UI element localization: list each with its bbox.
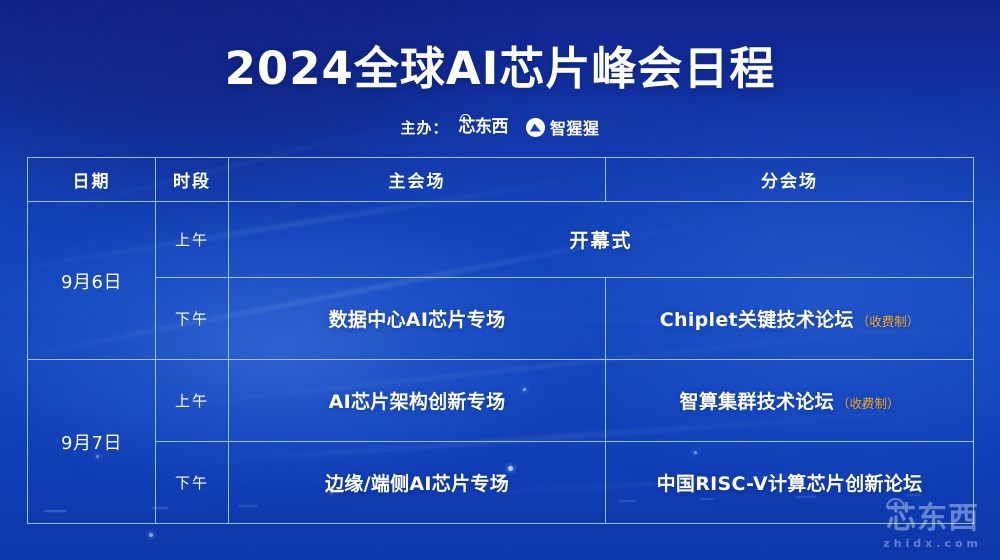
session-title: 开幕式 [569,226,632,253]
session-title: 智算集群技术论坛 [680,387,834,414]
session-text: 智算集群技术论坛 （收费制） [680,387,900,414]
table-row: 9月6日 上午 开幕式 [28,202,974,278]
table-row: 下午 数据中心AI芯片专场 Chiplet关键技术论坛 （收费制） [28,278,974,360]
cell-slot-1-0: 上午 [156,360,229,442]
schedule-table-container: 日期 时段 主会场 分会场 9月6日 上午 开幕式 [27,157,973,523]
table-row: 9月7日 上午 AI芯片架构创新专场 智算集群技术论坛 （收费制） [28,360,974,442]
background-particle [149,533,153,537]
session-text: Chiplet关键技术论坛 （收费制） [660,305,919,332]
fee-badge: （收费制） [837,393,900,412]
column-header-main: 主会场 [229,158,606,202]
fee-badge: （收费制） [857,311,920,330]
column-header-sub: 分会场 [606,158,974,202]
cell-sub-1-0: 智算集群技术论坛 （收费制） [606,360,974,442]
page-title: 2024全球AI芯片峰会日程 [0,32,1000,97]
organizer-label: 主办： [400,117,448,138]
cell-date-0: 9月6日 [28,202,156,360]
cell-slot-1-1: 下午 [156,442,229,524]
zhixingxing-logo-label: 智猩猩 [550,115,600,139]
column-header-slot: 时段 [156,158,229,202]
cell-main-0-1: 数据中心AI芯片专场 [229,278,606,360]
schedule-table: 日期 时段 主会场 分会场 9月6日 上午 开幕式 [27,157,974,524]
session-text: 边缘/端侧AI芯片专场 [325,469,509,496]
watermark-url: zhidx.com [883,537,982,550]
session-title: 边缘/端侧AI芯片专场 [325,469,509,496]
session-text: AI芯片架构创新专场 [329,387,506,414]
organizer-xindongxi: 芯东西 [459,118,509,137]
column-header-date: 日期 [28,158,156,202]
cell-slot-0-1: 下午 [156,278,229,360]
session-text: 数据中心AI芯片专场 [329,305,506,332]
cell-main-1-1: 边缘/端侧AI芯片专场 [229,442,606,524]
organizer-row: 主办： 芯东西 智猩猩 [0,115,1000,139]
session-text: 开幕式 [569,226,632,253]
table-row: 下午 边缘/端侧AI芯片专场 中国RISC-V计算芯片创新论坛 [28,442,974,524]
slide-canvas: 2024全球AI芯片峰会日程 主办： 芯东西 智猩猩 日期 时段 主会场 [0,0,1000,560]
cell-date-1: 9月7日 [28,360,156,524]
cell-sub-0-1: Chiplet关键技术论坛 （收费制） [606,278,974,360]
session-title: AI芯片架构创新专场 [329,387,506,414]
cell-sub-1-1: 中国RISC-V计算芯片创新论坛 [606,442,974,524]
cell-slot-0-0: 上午 [156,202,229,278]
session-title: 数据中心AI芯片专场 [329,305,506,332]
cell-main-1-0: AI芯片架构创新专场 [229,360,606,442]
organizer-zhixingxing: 智猩猩 [526,115,600,139]
session-text: 中国RISC-V计算芯片创新论坛 [657,469,923,496]
session-title: Chiplet关键技术论坛 [660,305,854,332]
xindongxi-logo-icon: 芯东西 [459,118,509,137]
session-title: 中国RISC-V计算芯片创新论坛 [657,469,923,496]
table-header-row: 日期 时段 主会场 分会场 [28,158,974,202]
slide-header: 2024全球AI芯片峰会日程 主办： 芯东西 智猩猩 [0,0,1000,139]
cell-session-0-0-both: 开幕式 [229,202,974,278]
zhixingxing-logo-icon [526,118,545,137]
